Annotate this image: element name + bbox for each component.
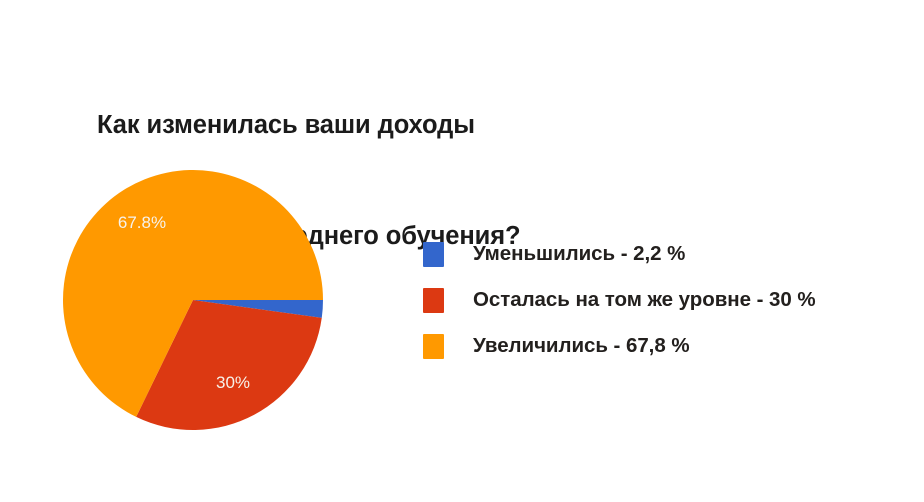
legend-swatch-same — [423, 288, 444, 313]
legend-item-same[interactable]: Осталась на том же уровне - 30 % — [423, 277, 893, 323]
legend-label-same: Осталась на том же уровне - 30 % — [473, 288, 816, 312]
legend-swatch-decreased — [423, 242, 444, 267]
legend-item-increased[interactable]: Увеличились - 67,8 % — [423, 323, 893, 369]
legend-item-decreased[interactable]: Уменьшились - 2,2 % — [423, 231, 893, 277]
pie-chart: 67.8%30% — [62, 169, 324, 431]
chart-legend: Уменьшились - 2,2 % Осталась на том же у… — [423, 231, 893, 369]
page-title-line-1: Как изменилась ваши доходы — [97, 107, 737, 144]
pie-chart-svg: 67.8%30% — [62, 169, 324, 431]
legend-swatch-increased — [423, 334, 444, 359]
pie-label-increased: 67.8% — [118, 213, 166, 232]
legend-label-increased: Увеличились - 67,8 % — [473, 334, 690, 358]
pie-label-same: 30% — [216, 373, 250, 392]
infographic-root: Как изменилась ваши доходы с момента пос… — [0, 0, 924, 502]
pie-slice-group — [63, 170, 323, 430]
legend-label-decreased: Уменьшились - 2,2 % — [473, 242, 685, 266]
